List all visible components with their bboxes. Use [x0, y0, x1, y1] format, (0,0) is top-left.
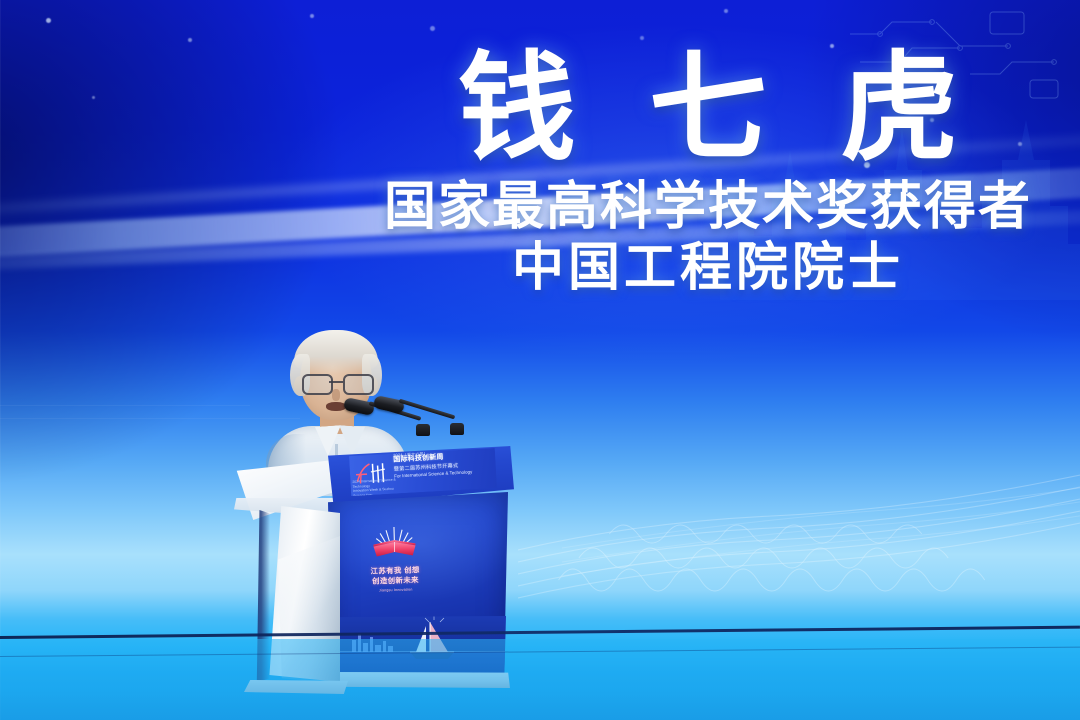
podium-emblem-slogan: 江苏有我 创想 创造创新未来: [350, 565, 441, 587]
headline-block: 钱 七 虎 国家最高科学技术奖获得者 中国工程院院士: [374, 46, 1042, 300]
light-speck: [92, 96, 95, 99]
eyeglass-bridge: [329, 381, 343, 383]
eyeglasses-icon: [302, 374, 370, 392]
speaker-name: 钱 七 虎: [374, 46, 1042, 171]
light-speck: [188, 38, 192, 42]
emblem-slogan-line2: 创造创新未来: [372, 575, 419, 585]
event-banner: 2024（第十六届） 国际科技创新周 暨第二届苏州科技节开幕式 For Inte…: [349, 448, 497, 496]
wave-moire-pattern-lower: [562, 452, 1080, 602]
led-seam: [0, 405, 250, 406]
light-speck: [310, 14, 314, 18]
light-speck: [724, 9, 728, 13]
light-speck: [430, 26, 435, 31]
microphone-base: [450, 423, 464, 435]
microphone-gooseneck: [399, 399, 456, 420]
speaker-mouth: [326, 402, 346, 411]
stage-screenshot: 钱 七 虎 国家最高科学技术奖获得者 中国工程院院士: [0, 0, 1080, 720]
podium-emblem-english: Jiangsu Innovation: [351, 586, 441, 593]
event-banner-title-line1: 国际科技创新周: [393, 454, 444, 464]
event-banner-english-left: 2024 International Science & Technology …: [352, 477, 399, 496]
emblem-slogan-line1: 江苏有我 创想: [370, 565, 419, 575]
open-book-flame-logo-icon: [371, 525, 418, 558]
microphone-capsule-icon: [343, 397, 375, 416]
led-seam: [0, 0, 1, 720]
speaker-award-title: 国家最高科学技术奖获得者: [374, 177, 1042, 238]
eyeglass-lens-left: [302, 374, 333, 395]
speaker-academic-title: 中国工程院院士: [374, 238, 1042, 299]
eyeglass-lens-right: [343, 374, 374, 395]
led-seam: [0, 418, 300, 419]
podium-emblem: 江苏有我 创想 创造创新未来 Jiangsu Innovation: [349, 525, 441, 603]
light-speck: [46, 18, 51, 23]
